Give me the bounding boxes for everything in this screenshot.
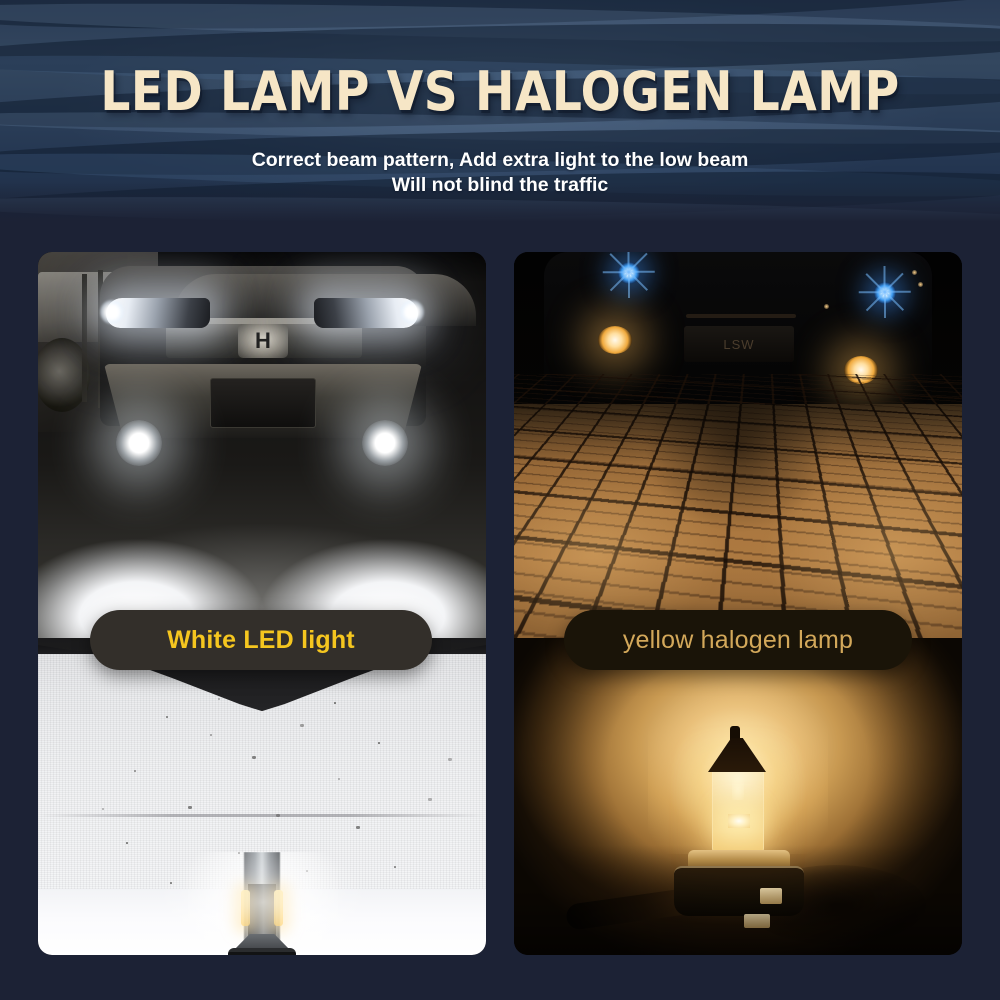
asphalt-speck <box>428 798 432 801</box>
civic-license-plate <box>210 378 316 428</box>
garage-rail <box>82 274 87 402</box>
asphalt-speck <box>276 814 280 817</box>
blue-light-spike <box>885 291 911 293</box>
comparison-panels: White LED light LSW <box>38 252 962 955</box>
honda-logo-icon <box>238 324 288 358</box>
led-night-photo <box>38 252 486 638</box>
asphalt-speck <box>252 756 256 759</box>
asphalt-speck <box>338 778 340 780</box>
asphalt-speck <box>356 826 360 829</box>
blue-light-spike <box>603 271 629 273</box>
asphalt-speck <box>210 734 212 736</box>
halogen-night-photo: LSW <box>514 252 962 638</box>
asphalt-speck <box>188 806 192 809</box>
halogen-bulb-photo <box>514 638 962 955</box>
page-root: LED LAMP VS HALOGEN LAMP Correct beam pa… <box>0 0 1000 1000</box>
halogen-marker-dot-3 <box>918 282 923 287</box>
asphalt-speck <box>218 698 220 700</box>
halogen-label-badge[interactable]: yellow halogen lamp <box>564 610 912 670</box>
asphalt-seam-line <box>38 814 486 817</box>
asphalt-speck <box>166 716 168 718</box>
blue-light-spike <box>629 271 655 273</box>
halogen-marker-dot-2 <box>912 270 917 275</box>
blue-light-spike <box>628 272 630 298</box>
brick-light-pooling <box>514 404 962 638</box>
asphalt-speck <box>378 742 380 744</box>
page-title: LED LAMP VS HALOGEN LAMP <box>15 60 985 123</box>
halogen-comparison-panel[interactable]: LSW <box>514 252 962 955</box>
subtitle-line-2: Will not blind the traffic <box>0 173 1000 198</box>
blue-accent-light-left <box>618 262 640 284</box>
led-bulb-photo <box>38 852 486 955</box>
led-fog-light-right <box>362 420 408 466</box>
halogen-vignette <box>514 638 962 955</box>
halogen-grille-bar <box>686 314 796 318</box>
led-label-badge[interactable]: White LED light <box>90 610 432 670</box>
halogen-headlight-left <box>598 326 632 354</box>
halogen-marker-dot-1 <box>824 304 829 309</box>
blue-light-spike <box>884 292 886 318</box>
subtitle-line-1: Correct beam pattern, Add extra light to… <box>252 149 749 171</box>
blue-light-spike <box>859 291 885 293</box>
asphalt-speck <box>134 770 136 772</box>
led-headlight-core-left <box>100 300 124 324</box>
asphalt-speck <box>448 758 452 761</box>
led-bulb-base <box>228 948 296 955</box>
asphalt-speck <box>300 724 304 727</box>
blue-accent-light-right <box>874 282 896 304</box>
page-subtitle: Correct beam pattern, Add extra light to… <box>0 148 1000 198</box>
halogen-headlight-right <box>844 356 878 384</box>
led-comparison-panel[interactable]: White LED light <box>38 252 486 955</box>
blue-light-spike <box>884 266 886 292</box>
asphalt-speck <box>334 702 336 704</box>
halogen-license-plate: LSW <box>684 326 794 362</box>
led-headlight-core-right <box>400 300 424 324</box>
led-fog-light-left <box>116 420 162 466</box>
asphalt-speck <box>102 808 104 810</box>
asphalt-speck <box>126 842 128 844</box>
